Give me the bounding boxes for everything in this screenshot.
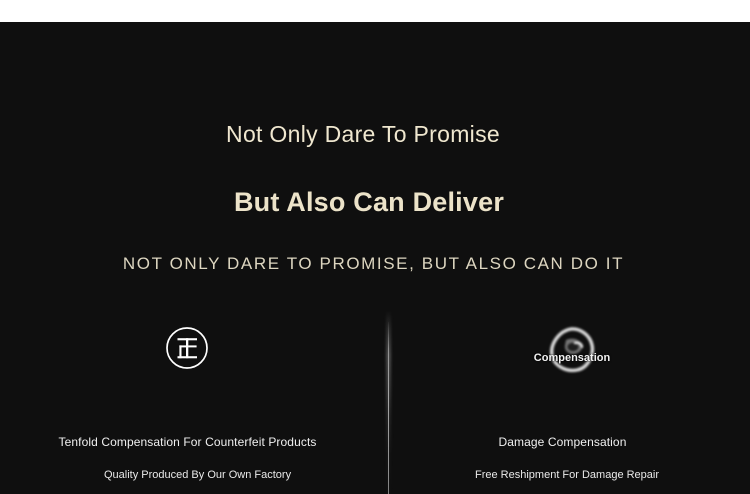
feature-title: Damage Compensation xyxy=(375,434,750,450)
feature-icon-container xyxy=(0,326,375,388)
feature-subtitle: Quality Produced By Our Own Factory xyxy=(104,468,384,482)
headline-secondary: But Also Can Deliver xyxy=(0,185,750,219)
top-white-strip xyxy=(0,0,750,22)
feature-columns: Tenfold Compensation For Counterfeit Pro… xyxy=(0,310,750,494)
feature-icon-container: Compensation xyxy=(375,326,750,388)
feature-item-damage: Compensation Damage Compensation Free Re… xyxy=(375,310,750,494)
headline-primary: Not Only Dare To Promise xyxy=(0,120,750,148)
compensation-badge-label: Compensation xyxy=(489,352,655,365)
promo-banner-page: Not Only Dare To Promise But Also Can De… xyxy=(0,0,750,494)
feature-subtitle: Free Reshipment For Damage Repair xyxy=(475,468,750,482)
feature-title: Tenfold Compensation For Counterfeit Pro… xyxy=(0,434,375,450)
headline-caption: NOT ONLY DARE TO PROMISE, BUT ALSO CAN D… xyxy=(0,252,750,276)
dark-banner: Not Only Dare To Promise But Also Can De… xyxy=(0,22,750,494)
zheng-circle-icon xyxy=(165,326,209,370)
feature-item-counterfeit: Tenfold Compensation For Counterfeit Pro… xyxy=(0,310,375,494)
compensation-badge-icon: Compensation xyxy=(547,326,597,374)
